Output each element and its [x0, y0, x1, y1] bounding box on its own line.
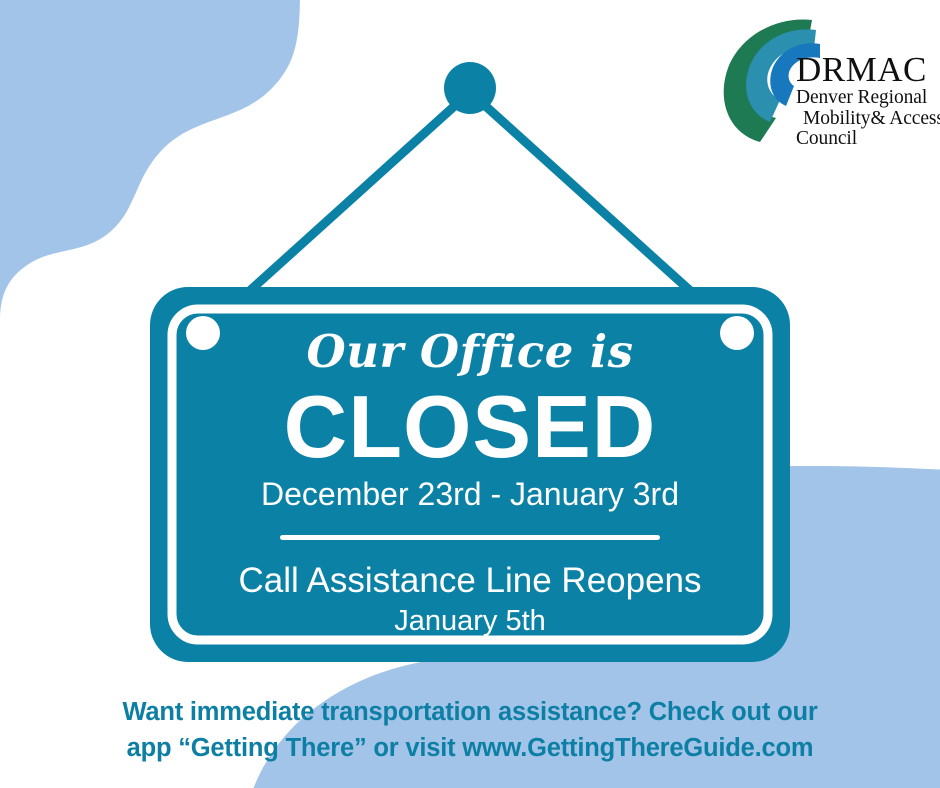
logo-subtitle-line-2: Mobility& Access: [796, 109, 938, 129]
logo-subtitle-line-3: Council: [796, 129, 938, 149]
logo-subtitle-line-1: Denver Regional: [796, 88, 938, 108]
sign-closure-dates: December 23rd - January 3rd: [175, 475, 765, 513]
poster-canvas: Our Office is CLOSED December 23rd - Jan…: [0, 0, 940, 788]
cta-block: Want immediate transportation assistance…: [70, 694, 870, 766]
drmac-logo: DRMAC Denver Regional Mobility& Access C…: [716, 14, 936, 164]
sign-text-block: Our Office is CLOSED December 23rd - Jan…: [175, 325, 765, 639]
cta-line-2: app “Getting There” or visit www.Getting…: [70, 730, 870, 766]
drmac-logo-text: DRMAC Denver Regional Mobility& Access C…: [796, 52, 938, 149]
sign-reopen-date: January 5th: [175, 603, 765, 639]
cta-line-1: Want immediate transportation assistance…: [70, 694, 870, 730]
logo-acronym: DRMAC: [796, 52, 938, 87]
sign-reopen-line: Call Assistance Line Reopens: [175, 560, 765, 602]
sign-script-line: Our Office is: [175, 325, 765, 379]
sign-headline: CLOSED: [175, 381, 765, 473]
sign-divider-rule: [280, 535, 660, 540]
sign-hook-knob: [444, 62, 496, 114]
